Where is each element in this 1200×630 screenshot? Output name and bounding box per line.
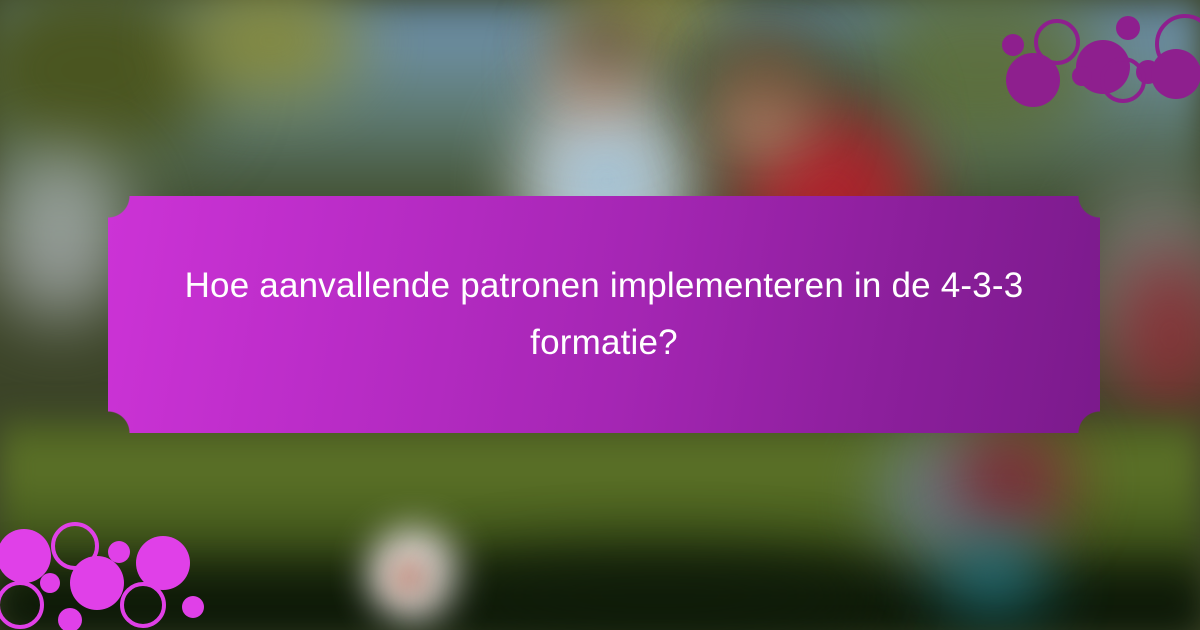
decor-circle (1006, 53, 1060, 107)
running-player-shirt-red (950, 420, 1070, 540)
decor-circle (1100, 57, 1146, 103)
decor-circle (58, 608, 82, 630)
decor-circle (1151, 49, 1200, 99)
social-card: Hoe aanvallende patronen implementeren i… (0, 0, 1200, 630)
decor-circle (70, 556, 124, 610)
decor-circle (40, 573, 60, 593)
grass-dark-patch (440, 555, 880, 630)
decor-dots-top-right (0, 0, 1200, 140)
decor-circle (1072, 66, 1092, 86)
decor-dots-bottom-left (0, 490, 260, 630)
running-player-shoe (940, 540, 1050, 610)
decor-circle (1116, 16, 1140, 40)
headline-banner: Hoe aanvallende patronen implementeren i… (108, 196, 1100, 433)
decor-circle (182, 596, 204, 618)
decor-circle (0, 581, 44, 629)
soccer-ball-detail (392, 560, 426, 594)
decor-circle (1002, 34, 1024, 56)
decor-circle (120, 582, 166, 628)
page-title: Hoe aanvallende patronen implementeren i… (108, 258, 1100, 371)
